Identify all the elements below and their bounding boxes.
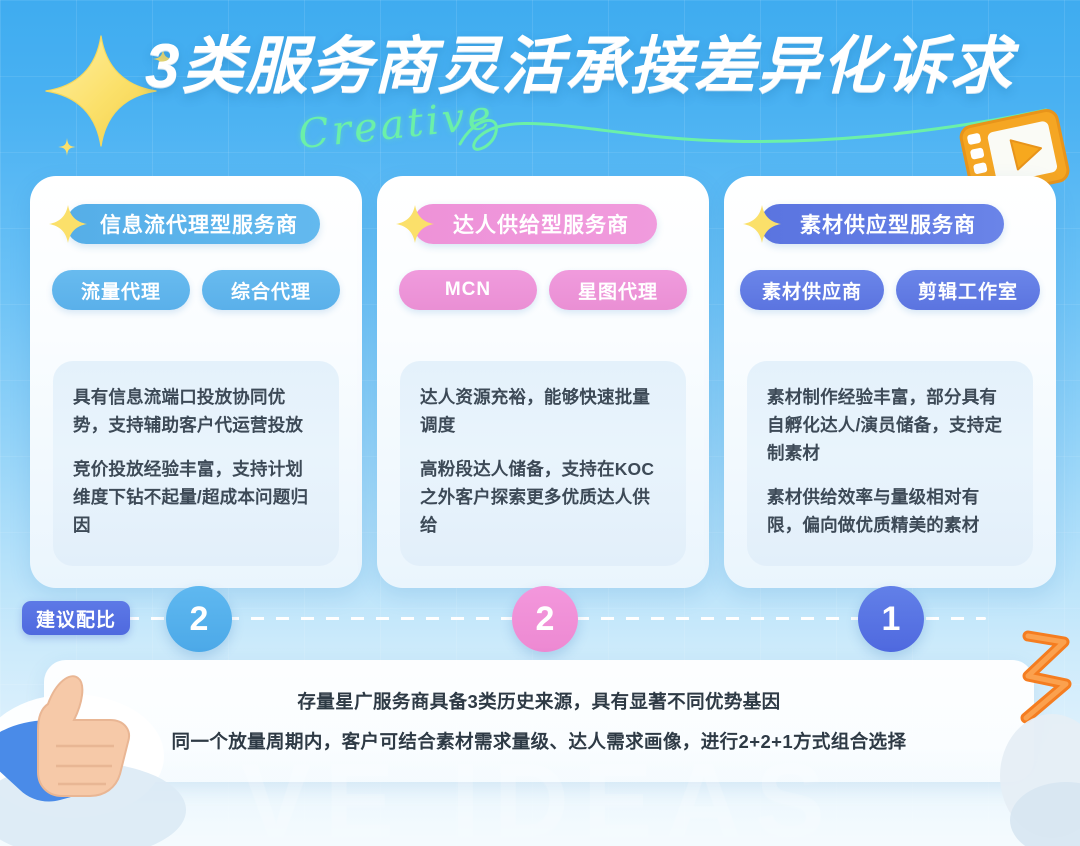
card-tag-list: 素材供应商 剪辑工作室 [724, 270, 1056, 310]
card-paragraph: 素材供给效率与量级相对有限，偏向做优质精美的素材 [767, 483, 1013, 539]
ratio-value-circle: 2 [512, 586, 578, 652]
card-information-flow-agency[interactable]: 信息流代理型服务商 流量代理 综合代理 具有信息流端口投放协同优势，支持辅助客户… [30, 176, 362, 588]
card-body-panel: 素材制作经验丰富，部分具有自孵化达人/演员储备，支持定制素材 素材供给效率与量级… [747, 361, 1033, 566]
card-tag-list: MCN 星图代理 [377, 270, 709, 310]
ratio-label-pill: 建议配比 [22, 601, 130, 635]
service-provider-cards: 信息流代理型服务商 流量代理 综合代理 具有信息流端口投放协同优势，支持辅助客户… [30, 176, 1058, 588]
card-paragraph: 具有信息流端口投放协同优势，支持辅助客户代运营投放 [73, 383, 319, 439]
card-paragraph: 达人资源充裕，能够快速批量调度 [420, 383, 666, 439]
card-tag[interactable]: MCN [399, 270, 537, 310]
card-tag-list: 流量代理 综合代理 [30, 270, 362, 310]
card-header: 素材供应型服务商 [724, 176, 1056, 272]
card-tag[interactable]: 流量代理 [52, 270, 190, 310]
sparkle-star-icon [395, 204, 435, 244]
card-body-panel: 达人资源充裕，能够快速批量调度 高粉段达人储备，支持在KOC之外客户探索更多优质… [400, 361, 686, 566]
ratio-value-circle: 2 [166, 586, 232, 652]
footer-line-1: 存量星广服务商具备3类历史来源，具有显著不同优势基因 [297, 688, 780, 714]
decorative-blob [1000, 700, 1080, 846]
page-title: 3类服务商灵活承接差异化诉求 [145, 26, 1013, 108]
recommended-ratio-row: 建议配比 2 2 1 [0, 588, 1080, 650]
sparkle-star-icon [48, 204, 88, 244]
sparkle-small-icon-2 [58, 138, 76, 156]
card-title-pill: 素材供应型服务商 [760, 204, 1004, 244]
footer-line-2: 同一个放量周期内，客户可结合素材需求量级、达人需求画像，进行2+2+1方式组合选… [172, 728, 907, 754]
card-tag[interactable]: 综合代理 [202, 270, 340, 310]
ratio-value-circle: 1 [858, 586, 924, 652]
card-title-pill: 信息流代理型服务商 [66, 204, 320, 244]
card-tag[interactable]: 星图代理 [549, 270, 687, 310]
sparkle-star-icon [742, 204, 782, 244]
card-tag[interactable]: 剪辑工作室 [896, 270, 1040, 310]
card-header: 信息流代理型服务商 [30, 176, 362, 272]
card-paragraph: 竞价投放经验丰富，支持计划维度下钻不起量/超成本问题归因 [73, 455, 319, 539]
card-talent-supply-agency[interactable]: 达人供给型服务商 MCN 星图代理 达人资源充裕，能够快速批量调度 高粉段达人储… [377, 176, 709, 588]
infographic-canvas: VE IDEAS 3类服务商灵活承接差异化诉求 Creative [0, 0, 1080, 846]
card-title-pill: 达人供给型服务商 [413, 204, 657, 244]
card-tag[interactable]: 素材供应商 [740, 270, 884, 310]
card-header: 达人供给型服务商 [377, 176, 709, 272]
header: 3类服务商灵活承接差异化诉求 Creative [0, 0, 1080, 175]
card-paragraph: 素材制作经验丰富，部分具有自孵化达人/演员储备，支持定制素材 [767, 383, 1013, 467]
creative-script-decoration: Creative [290, 100, 1050, 172]
card-body-panel: 具有信息流端口投放协同优势，支持辅助客户代运营投放 竞价投放经验丰富，支持计划维… [53, 361, 339, 566]
card-creative-material-supply-agency[interactable]: 素材供应型服务商 素材供应商 剪辑工作室 素材制作经验丰富，部分具有自孵化达人/… [724, 176, 1056, 588]
card-paragraph: 高粉段达人储备，支持在KOC之外客户探索更多优质达人供给 [420, 455, 666, 539]
thumbs-up-icon [0, 648, 196, 846]
sparkle-star-icon [42, 32, 160, 150]
